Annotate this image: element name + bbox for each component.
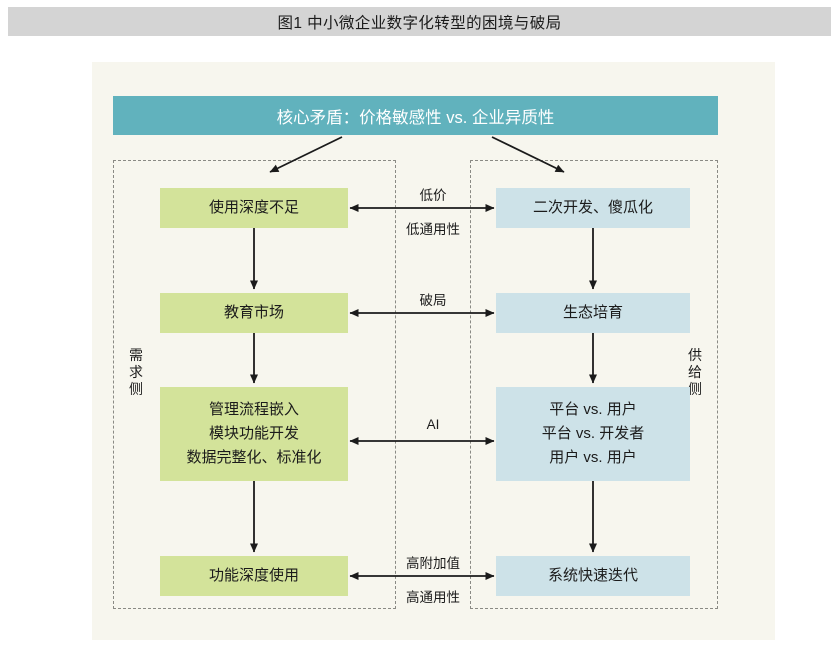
connector-label-ai: AI	[427, 417, 440, 432]
figure-panel: 核心矛盾：价格敏感性 vs. 企业异质性 需求侧 供给侧	[92, 62, 775, 640]
demand-node-3: 管理流程嵌入 模块功能开发 数据完整化、标准化	[160, 387, 348, 481]
node-line: 平台 vs. 开发者	[542, 422, 645, 446]
node-line: 管理流程嵌入	[209, 398, 299, 422]
node-line: 功能深度使用	[209, 564, 299, 588]
node-line: 平台 vs. 用户	[549, 398, 637, 422]
connector-label-breakout: 破局	[420, 289, 447, 309]
node-line: 系统快速迭代	[548, 564, 638, 588]
node-line: 使用深度不足	[209, 196, 299, 220]
page-title: 图1 中小微企业数字化转型的困境与破局	[277, 11, 561, 33]
connector-label-low-generality: 低通用性	[406, 218, 460, 238]
demand-side-label: 需求侧	[128, 347, 144, 398]
node-line: 用户 vs. 用户	[549, 446, 637, 470]
connector-label-high-generality: 高通用性	[406, 586, 460, 606]
supply-node-2: 生态培育	[496, 293, 690, 333]
connector-label-high-value: 高附加值	[406, 552, 460, 572]
supply-node-1: 二次开发、傻瓜化	[496, 188, 690, 228]
core-contradiction-banner: 核心矛盾：价格敏感性 vs. 企业异质性	[113, 96, 718, 135]
supply-node-4: 系统快速迭代	[496, 556, 690, 596]
supply-node-3: 平台 vs. 用户 平台 vs. 开发者 用户 vs. 用户	[496, 387, 690, 481]
node-line: 数据完整化、标准化	[186, 446, 321, 470]
node-line: 模块功能开发	[209, 422, 299, 446]
node-line: 教育市场	[224, 301, 284, 325]
core-contradiction-label: 核心矛盾：价格敏感性 vs. 企业异质性	[277, 104, 555, 128]
figure-title-bar: 图1 中小微企业数字化转型的困境与破局	[8, 7, 831, 36]
demand-node-4: 功能深度使用	[160, 556, 348, 596]
node-line: 生态培育	[563, 301, 623, 325]
demand-node-1: 使用深度不足	[160, 188, 348, 228]
demand-node-2: 教育市场	[160, 293, 348, 333]
node-line: 二次开发、傻瓜化	[533, 196, 653, 220]
connector-label-low-price: 低价	[420, 184, 447, 204]
